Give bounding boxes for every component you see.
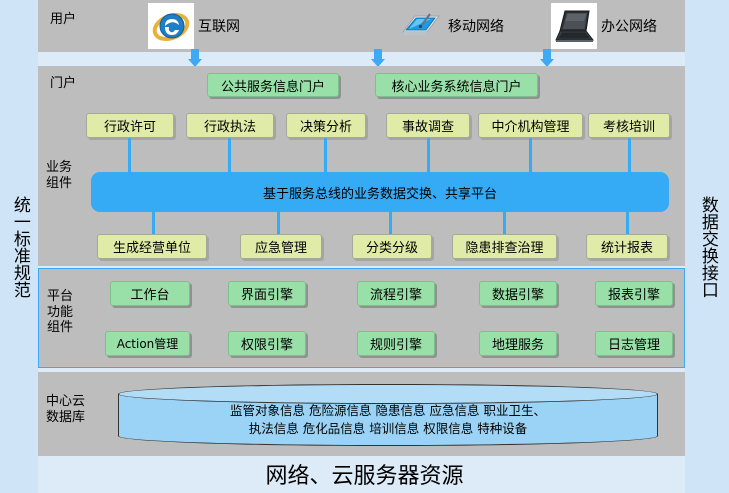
portal-band: 门户 公共服务信息门户 核心业务系统信息门户 (38, 66, 685, 104)
cylinder-content: 监管对象信息 危险源信息 隐患信息 应急信息 职业卫生、 执法信息 危化品信息 … (118, 398, 658, 442)
platform-box-workbench-label: 工作台 (130, 284, 169, 303)
central-cloud-database-cylinder[interactable]: 监管对象信息 危险源信息 隐患信息 应急信息 职业卫生、 执法信息 危化品信息 … (118, 384, 658, 446)
business-box-permit-label: 行政许可 (104, 116, 156, 135)
platform-box-action-mgmt-label: Action管理 (117, 335, 179, 352)
platform-box-permission-engine[interactable]: 权限引擎 (228, 331, 306, 356)
arrow-down-mobile-icon (371, 49, 385, 67)
business-box-unit-label: 生成经营单位 (113, 237, 191, 256)
platform-box-rule-engine-label: 规则引擎 (370, 334, 422, 353)
platform-box-report-engine-label: 报表引擎 (608, 284, 660, 303)
connector-emergency (277, 212, 280, 234)
portal-box-core-label: 核心业务系统信息门户 (391, 76, 521, 95)
user-mobile-label: 移动网络 (448, 16, 504, 36)
platform-box-report-engine[interactable]: 报表引擎 (595, 281, 673, 306)
business-box-agency[interactable]: 中介机构管理 (478, 113, 583, 138)
business-box-training-label: 考核培训 (603, 116, 655, 135)
platform-band-label: 平台 功能 组件 (47, 289, 73, 336)
business-band-label: 业务 组件 (46, 160, 72, 191)
portal-box-core[interactable]: 核心业务系统信息门户 (375, 73, 538, 97)
business-box-classification[interactable]: 分类分级 (352, 234, 432, 259)
service-bus-label: 基于服务总线的业务数据交换、共享平台 (263, 183, 497, 202)
business-box-hazard[interactable]: 隐患排查治理 (452, 234, 557, 259)
tablet-stylus-icon (398, 3, 444, 49)
business-box-emergency-label: 应急管理 (255, 237, 307, 256)
business-box-report-label: 统计报表 (601, 237, 653, 256)
connector-training (628, 138, 631, 172)
business-box-accident[interactable]: 事故调查 (386, 113, 470, 138)
platform-box-action-mgmt[interactable]: Action管理 (105, 331, 190, 356)
database-band-label: 中心云 数据库 (46, 394, 85, 425)
business-box-report[interactable]: 统计报表 (586, 234, 668, 259)
portal-box-public[interactable]: 公共服务信息门户 (207, 73, 339, 97)
internet-explorer-icon (148, 3, 194, 49)
platform-box-process-engine[interactable]: 流程引擎 (357, 281, 435, 306)
portal-band-label: 门户 (50, 76, 76, 92)
right-rail-label: 数据交换接口 (696, 196, 718, 298)
cylinder-line-1: 监管对象信息 危险源信息 隐患信息 应急信息 职业卫生、 (230, 402, 546, 420)
connector-permit (128, 138, 131, 172)
business-box-classification-label: 分类分级 (366, 237, 418, 256)
connector-accident (427, 138, 430, 172)
user-internet[interactable]: 互联网 (148, 3, 240, 49)
cylinder-line-2: 执法信息 危化品信息 培训信息 权限信息 特种设备 (249, 420, 527, 438)
platform-box-ui-engine[interactable]: 界面引擎 (228, 281, 306, 306)
business-box-agency-label: 中介机构管理 (491, 116, 569, 135)
platform-box-rule-engine[interactable]: 规则引擎 (357, 331, 435, 356)
user-office-label: 办公网络 (601, 16, 657, 36)
page-caption: 网络、云服务器资源 (0, 458, 729, 490)
business-box-enforcement-label: 行政执法 (204, 116, 256, 135)
users-band-label: 用户 (50, 12, 76, 28)
business-box-decision[interactable]: 决策分析 (286, 113, 366, 138)
connector-report (626, 212, 629, 234)
platform-box-geo-service[interactable]: 地理服务 (479, 331, 557, 356)
platform-box-permission-engine-label: 权限引擎 (241, 334, 293, 353)
business-box-permit[interactable]: 行政许可 (86, 113, 174, 138)
users-band: 用户 互联网 (38, 0, 685, 52)
business-box-training[interactable]: 考核培训 (588, 113, 670, 138)
service-bus-bar[interactable]: 基于服务总线的业务数据交换、共享平台 (91, 172, 669, 212)
arrow-down-internet-icon (188, 49, 202, 67)
user-mobile[interactable]: 移动网络 (398, 3, 504, 49)
left-rail-label: 统一标准规范 (8, 196, 30, 298)
connector-hazard (503, 212, 506, 234)
platform-box-data-engine[interactable]: 数据引擎 (479, 281, 557, 306)
platform-box-workbench[interactable]: 工作台 (110, 281, 190, 306)
platform-box-data-engine-label: 数据引擎 (492, 284, 544, 303)
platform-box-ui-engine-label: 界面引擎 (241, 284, 293, 303)
right-rail: 数据交换接口 (685, 0, 729, 493)
business-box-decision-label: 决策分析 (300, 116, 352, 135)
left-rail: 统一标准规范 (0, 0, 38, 493)
connector-agency (529, 138, 532, 172)
connector-unit (152, 212, 155, 234)
laptop-icon (551, 3, 597, 49)
business-box-enforcement[interactable]: 行政执法 (186, 113, 274, 138)
user-internet-label: 互联网 (198, 16, 240, 36)
platform-box-log-mgmt-label: 日志管理 (608, 334, 660, 353)
business-box-hazard-label: 隐患排查治理 (465, 237, 543, 256)
user-office[interactable]: 办公网络 (551, 3, 657, 49)
business-box-accident-label: 事故调查 (402, 116, 454, 135)
platform-box-geo-service-label: 地理服务 (492, 334, 544, 353)
platform-box-log-mgmt[interactable]: 日志管理 (595, 331, 673, 356)
connector-classification (389, 212, 392, 234)
business-box-unit[interactable]: 生成经营单位 (97, 234, 207, 259)
arrow-down-office-icon (540, 49, 554, 67)
connector-decision (324, 138, 327, 172)
platform-box-process-engine-label: 流程引擎 (370, 284, 422, 303)
business-box-emergency[interactable]: 应急管理 (240, 234, 322, 259)
connector-enforcement (228, 138, 231, 172)
portal-box-public-label: 公共服务信息门户 (221, 76, 325, 95)
